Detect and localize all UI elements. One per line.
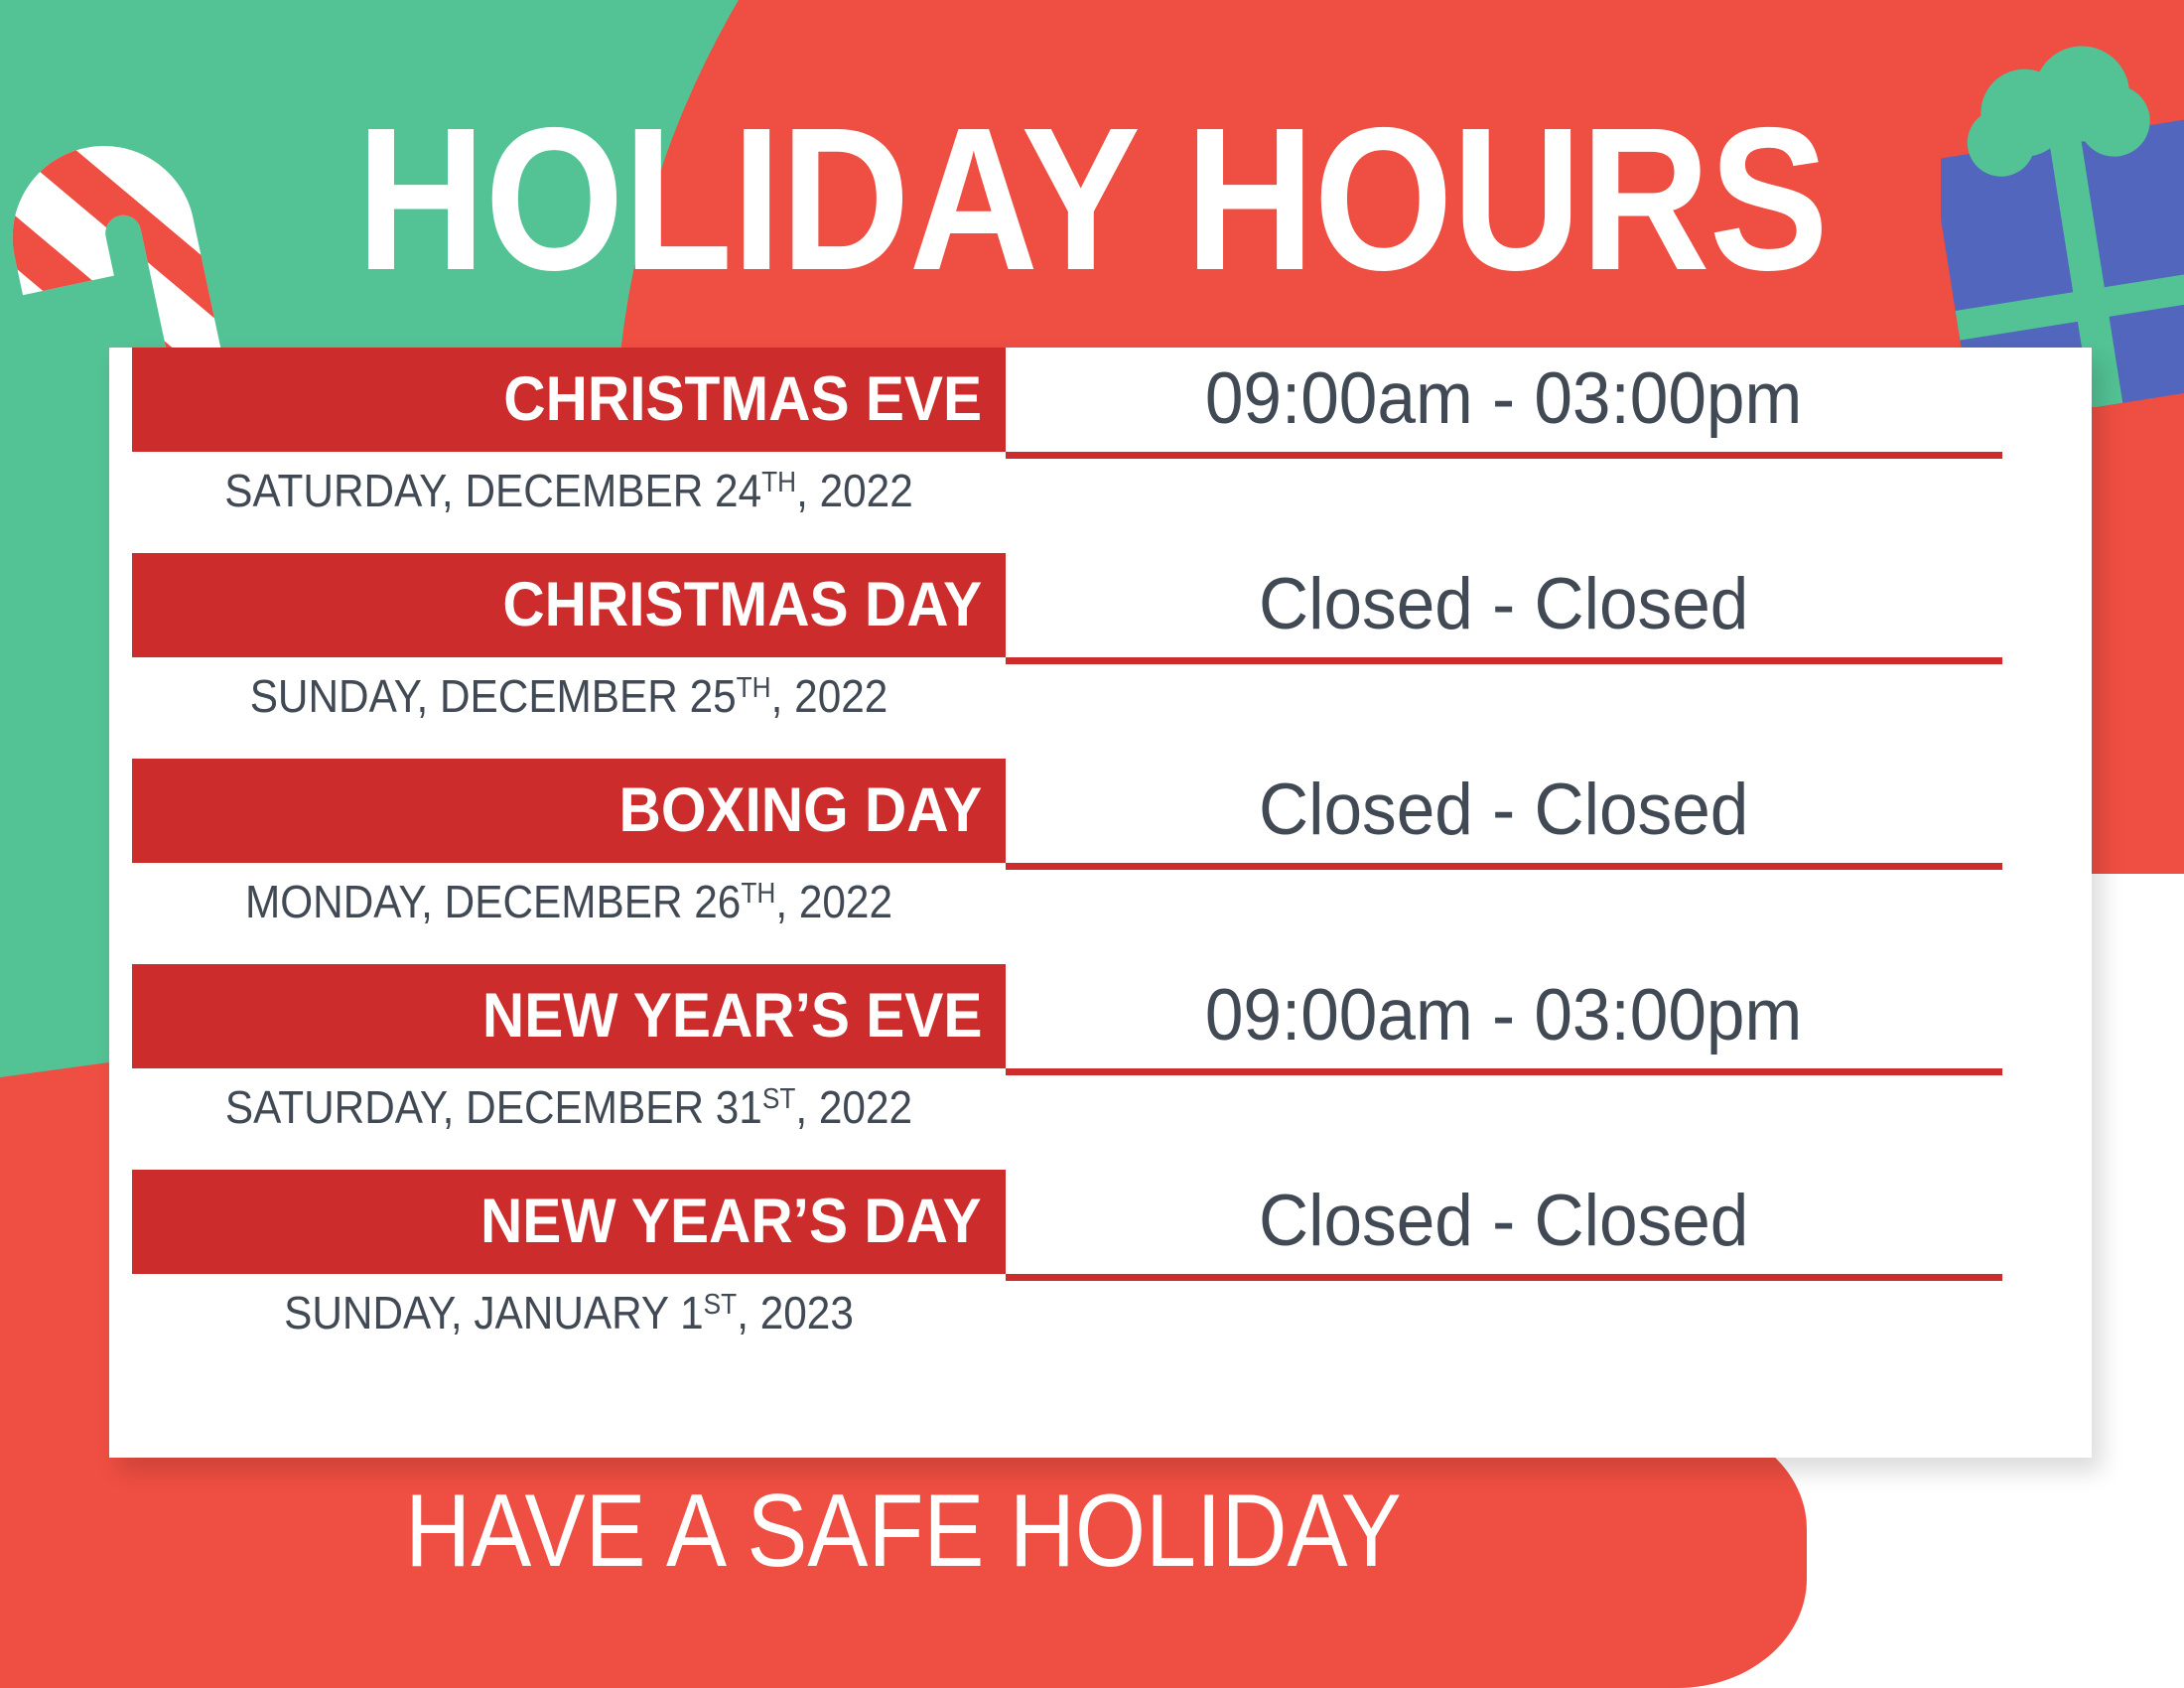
table-row: CHRISTMAS EVE SATURDAY, DECEMBER 24TH, 2… [109,348,2092,553]
table-row: NEW YEAR’S DAY SUNDAY, JANUARY 1ST, 2023… [109,1170,2092,1375]
date-tail: , 2022 [796,465,913,516]
hours-underline [1006,657,2002,664]
date-prefix: SUNDAY, JANUARY 1 [284,1287,704,1338]
date-prefix: SATURDAY, DECEMBER 31 [225,1081,762,1133]
holiday-date: SATURDAY, DECEMBER 24TH, 2022 [167,455,971,518]
date-tail: , 2022 [771,670,888,722]
holiday-name-plate: CHRISTMAS EVE [132,348,1006,452]
holiday-hours-poster: HOLIDAY HOURS CHRISTMAS EVE SATURDAY, DE… [0,0,2184,1688]
hours-value: Closed - Closed [1259,1183,1748,1260]
hours-cell: 09:00am - 03:00pm [1006,956,2002,1075]
hours-cell: Closed - Closed [1006,545,2002,664]
hours-value: 09:00am - 03:00pm [1205,977,1802,1055]
page-title: HOLIDAY HOURS [131,97,2053,301]
holiday-date: SATURDAY, DECEMBER 31ST, 2022 [167,1071,971,1135]
date-ordinal-suffix: ST [762,1083,796,1115]
holiday-name: BOXING DAY [618,779,982,842]
date-ordinal-suffix: TH [737,672,771,704]
schedule-rows: CHRISTMAS EVE SATURDAY, DECEMBER 24TH, 2… [109,348,2092,1375]
holiday-name-plate: NEW YEAR’S DAY [132,1170,1006,1274]
date-prefix: SATURDAY, DECEMBER 24 [224,465,761,516]
table-row: CHRISTMAS DAY SUNDAY, DECEMBER 25TH, 202… [109,553,2092,759]
holiday-name: CHRISTMAS DAY [502,574,982,636]
date-ordinal-suffix: ST [704,1289,738,1321]
date-prefix: SUNDAY, DECEMBER 25 [250,670,737,722]
holiday-name-plate: BOXING DAY [132,759,1006,863]
date-tail: , 2023 [737,1287,854,1338]
hours-underline [1006,863,2002,870]
table-row: BOXING DAY MONDAY, DECEMBER 26TH, 2022 C… [109,759,2092,964]
hours-cell: 09:00am - 03:00pm [1006,340,2002,459]
holiday-date: MONDAY, DECEMBER 26TH, 2022 [167,866,971,929]
hours-underline [1006,1274,2002,1281]
schedule-card: CHRISTMAS EVE SATURDAY, DECEMBER 24TH, 2… [109,348,2092,1458]
holiday-date: SUNDAY, DECEMBER 25TH, 2022 [167,660,971,724]
date-prefix: MONDAY, DECEMBER 26 [245,876,741,927]
holiday-name-plate: CHRISTMAS DAY [132,553,1006,657]
hours-value: Closed - Closed [1259,772,1748,849]
hours-underline [1006,1068,2002,1075]
hours-value: 09:00am - 03:00pm [1205,360,1802,438]
holiday-name: NEW YEAR’S DAY [480,1191,982,1253]
hours-underline [1006,452,2002,459]
date-tail: , 2022 [795,1081,912,1133]
hours-value: Closed - Closed [1259,566,1748,643]
date-ordinal-suffix: TH [741,878,775,910]
holiday-name-plate: NEW YEAR’S EVE [132,964,1006,1068]
hours-cell: Closed - Closed [1006,1162,2002,1281]
holiday-date: SUNDAY, JANUARY 1ST, 2023 [167,1277,971,1340]
table-row: NEW YEAR’S EVE SATURDAY, DECEMBER 31ST, … [109,964,2092,1170]
date-tail: , 2022 [775,876,892,927]
holiday-name: CHRISTMAS EVE [503,368,982,431]
footer-tagline: HAVE A SAFE HOLIDAY [108,1477,1699,1586]
holiday-name: NEW YEAR’S EVE [481,985,982,1048]
hours-cell: Closed - Closed [1006,751,2002,870]
date-ordinal-suffix: TH [761,467,796,498]
